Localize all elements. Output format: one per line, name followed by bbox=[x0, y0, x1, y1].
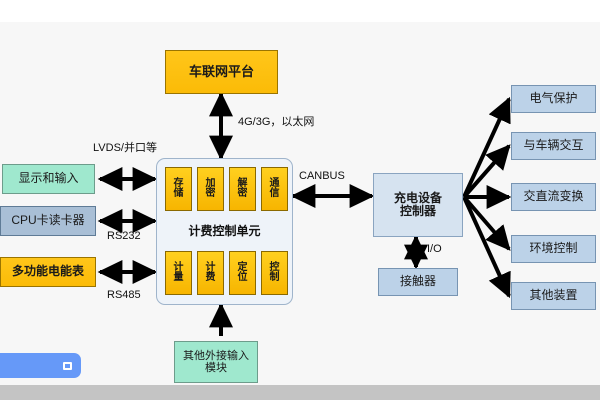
node-other-devices[interactable]: 其他装置 bbox=[511, 282, 596, 310]
node-ac-dc-conversion[interactable]: 交直流变换 bbox=[511, 183, 596, 211]
arrow-out-4 bbox=[464, 197, 509, 249]
node-charging-controller[interactable]: 充电设备 控制器 bbox=[373, 173, 463, 237]
chip-communication[interactable]: 通 信 bbox=[261, 167, 288, 211]
chip-positioning[interactable]: 定 位 bbox=[229, 251, 256, 295]
label-uplink: 4G/3G，以太网 bbox=[238, 113, 314, 129]
node-display-and-input[interactable]: 显示和输入 bbox=[2, 164, 95, 194]
screenshot-root: 车联网平台 显示和输入 CPU卡读卡器 多功能电能表 计费控制单元 存 储 加 … bbox=[0, 0, 600, 400]
unit-title: 计费控制单元 bbox=[157, 222, 292, 239]
arrow-out-5 bbox=[464, 197, 509, 296]
chip-billing[interactable]: 计 费 bbox=[197, 251, 224, 295]
chip-storage[interactable]: 存 储 bbox=[165, 167, 192, 211]
node-environment-control[interactable]: 环境控制 bbox=[511, 235, 596, 263]
node-external-input-module[interactable]: 其他外接输入 模块 bbox=[174, 341, 258, 383]
taskbar-pill[interactable] bbox=[0, 353, 81, 378]
node-electrical-protection[interactable]: 电气保护 bbox=[511, 85, 596, 113]
label-canbus: CANBUS bbox=[299, 170, 345, 182]
node-contactor[interactable]: 接触器 bbox=[378, 268, 458, 296]
node-cpu-card-reader[interactable]: CPU卡读卡器 bbox=[0, 206, 96, 236]
label-rs485: RS485 bbox=[107, 289, 141, 301]
chip-decrypt[interactable]: 解 密 bbox=[229, 167, 256, 211]
chip-metering[interactable]: 计 量 bbox=[165, 251, 192, 295]
node-platform[interactable]: 车联网平台 bbox=[165, 50, 278, 94]
node-vehicle-interaction[interactable]: 与车辆交互 bbox=[511, 132, 596, 160]
arrow-layer bbox=[0, 0, 600, 400]
chip-encrypt[interactable]: 加 密 bbox=[197, 167, 224, 211]
window-square-icon bbox=[63, 362, 72, 370]
label-io: I/O bbox=[427, 243, 442, 255]
label-rs232: RS232 bbox=[107, 230, 141, 242]
label-display-bus: LVDS/并口等 bbox=[93, 139, 157, 155]
arrow-out-1 bbox=[464, 99, 509, 197]
arrow-out-2 bbox=[464, 146, 509, 197]
chip-control[interactable]: 控 制 bbox=[261, 251, 288, 295]
node-multifunction-meter[interactable]: 多功能电能表 bbox=[0, 257, 96, 287]
